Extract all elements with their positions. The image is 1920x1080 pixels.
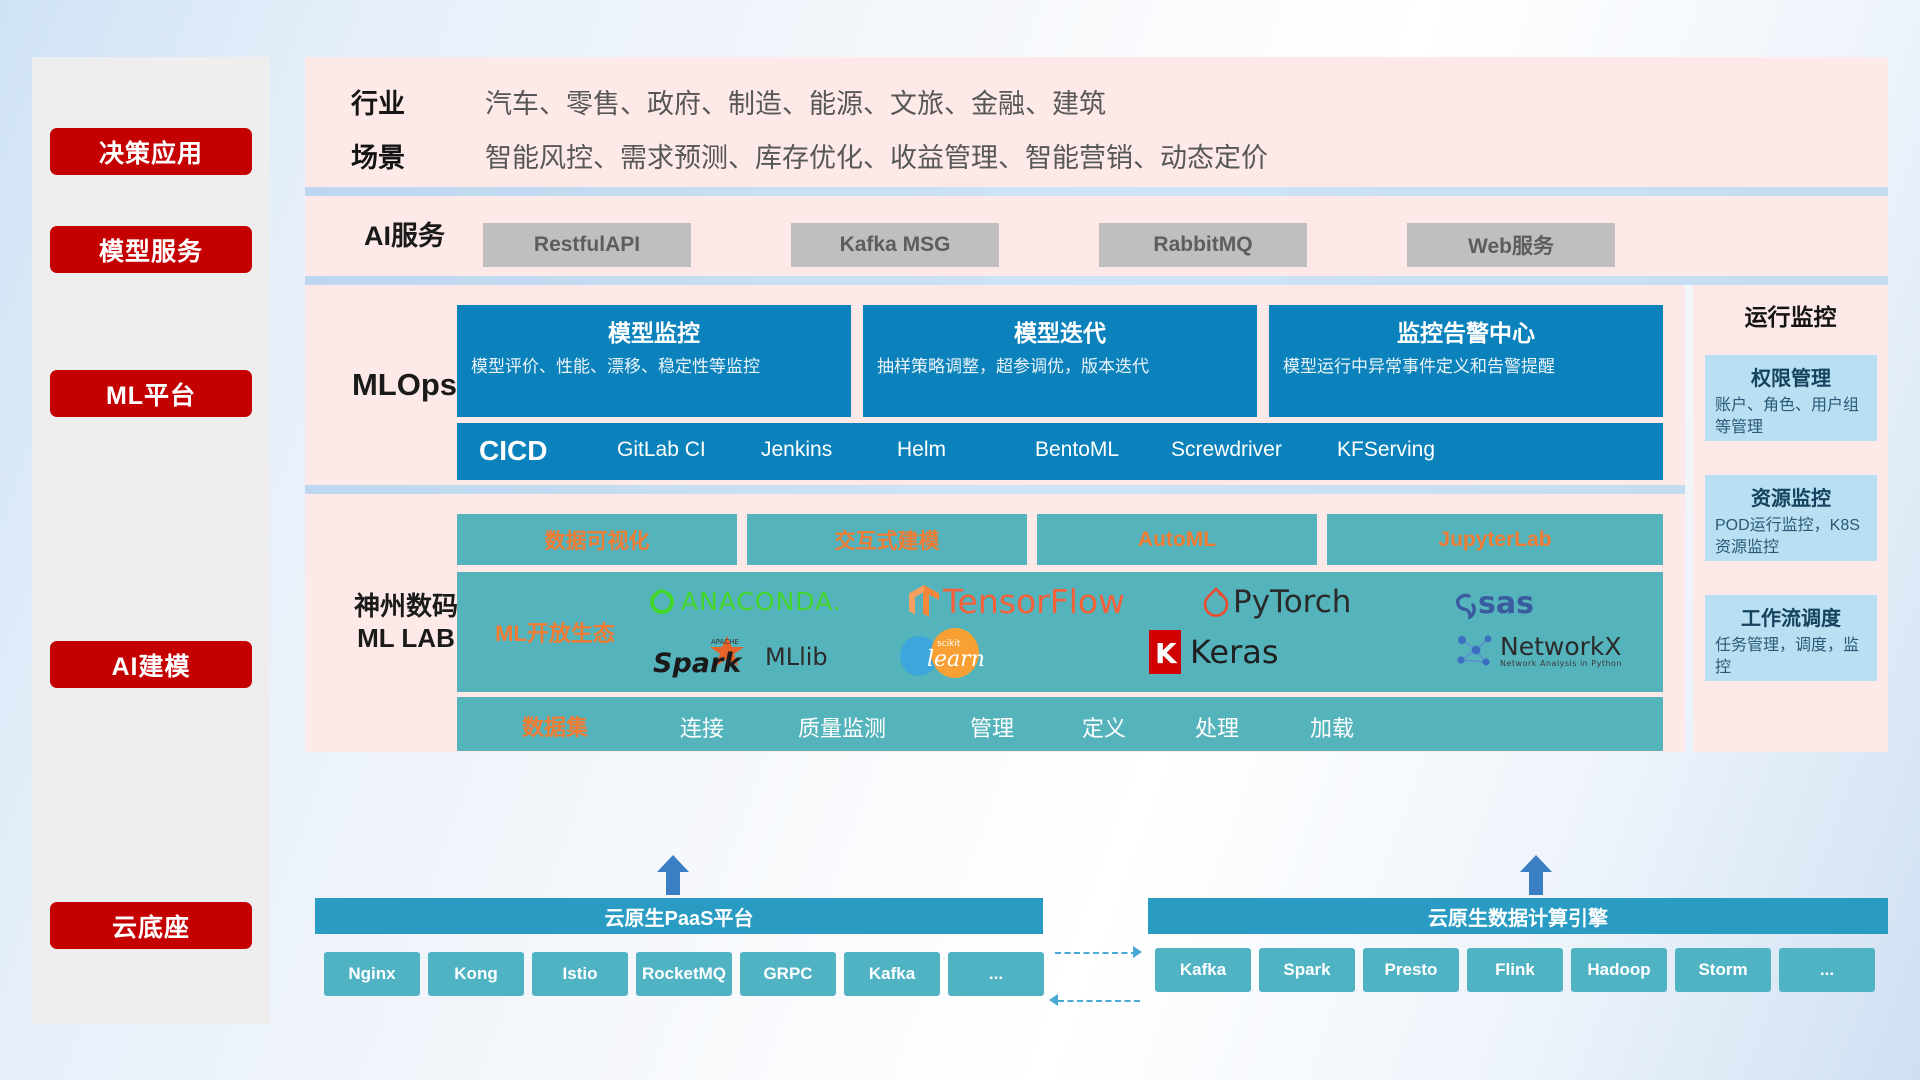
card-title: 权限管理 — [1715, 362, 1867, 391]
architecture-diagram: 决策应用 模型服务 ML平台 AI建模 云底座 行业 汽车、零售、政府、制造、能… — [0, 0, 1920, 1080]
cloud-chip-kafka-right[interactable]: Kafka — [1155, 948, 1251, 992]
sas-mark-icon — [1447, 589, 1477, 619]
ml-ecosystem-label: ML开放生态 — [475, 616, 635, 648]
cloud-chip-istio[interactable]: Istio — [532, 952, 628, 996]
dataset-item-label: 加载 — [1310, 716, 1354, 741]
cloud-chip-storm[interactable]: Storm — [1675, 948, 1771, 992]
cloud-chip-nginx[interactable]: Nginx — [324, 952, 420, 996]
cloud-chip-label: GRPC — [763, 965, 812, 984]
arrow-up-paas-icon — [655, 855, 691, 895]
ml-lab-label-line2: ML LAB — [354, 623, 458, 655]
dataset-label: 数据集 — [475, 710, 635, 742]
cloud-chip-label: Storm — [1698, 961, 1747, 980]
cloud-chip-label: RocketMQ — [642, 965, 726, 984]
rail-item-decision-app[interactable]: 决策应用 — [50, 128, 252, 175]
industry-list: 汽车、零售、政府、制造、能源、文旅、金融、建筑 — [485, 82, 1106, 121]
dataset-item-label: 连接 — [680, 716, 724, 741]
card-desc: 抽样策略调整，超参调优，版本迭代 — [877, 355, 1243, 380]
cloud-chip-kong[interactable]: Kong — [428, 952, 524, 996]
dataset-item-load[interactable]: 加载 — [1277, 711, 1387, 743]
dataset-item-label: 质量监测 — [798, 716, 886, 741]
mlops-card-model-iteration[interactable]: 模型迭代 抽样策略调整，超参调优，版本迭代 — [863, 305, 1257, 417]
chip-label: Kafka MSG — [840, 233, 951, 257]
rail-item-label: 云底座 — [112, 908, 190, 944]
rail-item-model-service[interactable]: 模型服务 — [50, 226, 252, 273]
cloud-chip-kafka[interactable]: Kafka — [844, 952, 940, 996]
spark-mllib-logo: APACHE Spark MLlib — [653, 634, 828, 680]
anaconda-logo: ANACONDA. — [647, 586, 842, 616]
cloud-chip-label: Nginx — [348, 965, 395, 984]
cloud-header-label: 云原生数据计算引擎 — [1428, 902, 1608, 931]
industry-scene-band: 行业 汽车、零售、政府、制造、能源、文旅、金融、建筑 场景 智能风控、需求预测、… — [305, 57, 1888, 187]
cloud-chip-more-left[interactable]: ... — [948, 952, 1044, 996]
cloud-chip-label: ... — [1820, 961, 1834, 980]
lab-tab-label: JupyterLab — [1438, 528, 1551, 552]
spark-mark-icon: APACHE Spark — [653, 634, 761, 680]
networkx-wordmark: NetworkX — [1500, 634, 1622, 659]
networkx-logo: NetworkX Network Analysis in Python — [1452, 630, 1622, 672]
rail-item-label: ML平台 — [106, 376, 196, 412]
chip-label: RabbitMQ — [1153, 233, 1252, 257]
pytorch-flame-icon — [1202, 586, 1230, 618]
pytorch-logo: PyTorch — [1202, 584, 1351, 620]
tensorflow-logo: TensorFlow — [907, 582, 1125, 621]
mllib-wordmark: MLlib — [765, 643, 828, 671]
tensorflow-mark-icon — [907, 583, 941, 621]
card-title: 模型监控 — [471, 314, 837, 348]
cicd-item-label: Screwdriver — [1171, 438, 1282, 461]
cicd-item-label: KFServing — [1337, 438, 1435, 461]
cicd-item-label: BentoML — [1035, 438, 1119, 461]
anaconda-mark-icon — [647, 586, 677, 616]
rail-item-label: 决策应用 — [99, 134, 203, 170]
scikit-learn-mark-icon: scikit learn — [897, 628, 1017, 680]
card-desc: POD运行监控，K8S资源监控 — [1715, 515, 1867, 560]
dataset-item-manage[interactable]: 管理 — [937, 711, 1047, 743]
dataset-item-quality[interactable]: 质量监测 — [787, 711, 897, 743]
rail-item-cloud-base[interactable]: 云底座 — [50, 902, 252, 949]
card-desc: 任务管理，调度，监控 — [1715, 635, 1867, 680]
connector-left-arrowhead-icon — [1049, 994, 1058, 1006]
scene-term: 场景 — [351, 136, 471, 175]
lab-tab-label: AutoML — [1138, 528, 1216, 552]
lab-tab-jupyterlab[interactable]: JupyterLab — [1327, 514, 1663, 565]
cloud-chip-more-right[interactable]: ... — [1779, 948, 1875, 992]
cloud-chip-presto[interactable]: Presto — [1363, 948, 1459, 992]
scene-list: 智能风控、需求预测、库存优化、收益管理、智能营销、动态定价 — [485, 136, 1268, 175]
rail-item-label: 模型服务 — [99, 232, 203, 268]
cicd-item-jenkins[interactable]: Jenkins — [761, 437, 869, 464]
anaconda-wordmark: ANACONDA. — [681, 587, 842, 616]
cloud-chip-flink[interactable]: Flink — [1467, 948, 1563, 992]
networkx-graph-icon — [1452, 630, 1496, 672]
ml-lab-label-line1: 神州数码 — [354, 591, 458, 623]
lab-tab-label: 交互式建模 — [835, 525, 940, 555]
dataset-item-label: 管理 — [970, 716, 1014, 741]
cloud-chip-label: ... — [989, 965, 1003, 984]
connector-right-arrow — [1055, 952, 1137, 954]
cicd-item-screwdriver[interactable]: Screwdriver — [1171, 437, 1279, 464]
dataset-item-connect[interactable]: 连接 — [647, 711, 757, 743]
svg-text:APACHE: APACHE — [711, 638, 739, 646]
monitor-card-resource[interactable]: 资源监控 POD运行监控，K8S资源监控 — [1705, 475, 1877, 561]
tensorflow-wordmark: TensorFlow — [943, 582, 1125, 621]
lab-tab-automl[interactable]: AutoML — [1037, 514, 1317, 565]
lab-tab-data-visualization[interactable]: 数据可视化 — [457, 514, 737, 565]
layer-rail: 决策应用 模型服务 ML平台 AI建模 云底座 — [32, 57, 270, 1024]
band-divider — [305, 187, 1888, 196]
rail-item-ai-modeling[interactable]: AI建模 — [50, 641, 252, 688]
cloud-chip-grpc[interactable]: GRPC — [740, 952, 836, 996]
ai-service-label: AI服务 — [327, 196, 482, 276]
card-desc: 模型运行中异常事件定义和告警提醒 — [1283, 355, 1649, 380]
service-chip-rabbitmq[interactable]: RabbitMQ — [1099, 223, 1307, 267]
chip-label: RestfulAPI — [534, 233, 640, 257]
mlops-card-alert-center[interactable]: 监控告警中心 模型运行中异常事件定义和告警提醒 — [1269, 305, 1663, 417]
scikit-learn-logo: scikit learn — [897, 628, 1017, 680]
cicd-item-label: GitLab CI — [617, 438, 706, 461]
card-title: 监控告警中心 — [1283, 314, 1649, 348]
cloud-header-label: 云原生PaaS平台 — [605, 902, 754, 931]
monitor-card-workflow[interactable]: 工作流调度 任务管理，调度，监控 — [1705, 595, 1877, 681]
cloud-chip-label: Hadoop — [1587, 961, 1650, 980]
chip-label: Web服务 — [1468, 230, 1554, 260]
cloud-chip-rocketmq[interactable]: RocketMQ — [636, 952, 732, 996]
cicd-item-gitlab-ci[interactable]: GitLab CI — [617, 437, 725, 464]
card-desc: 模型评价、性能、漂移、稳定性等监控 — [471, 355, 837, 380]
cloud-chip-label: Kong — [454, 965, 497, 984]
rail-item-ml-platform[interactable]: ML平台 — [50, 370, 252, 417]
keras-wordmark: Keras — [1190, 633, 1279, 671]
cicd-item-label: Jenkins — [761, 438, 832, 461]
monitor-card-permission[interactable]: 权限管理 账户、角色、用户组等管理 — [1705, 355, 1877, 441]
networkx-tagline: Network Analysis in Python — [1500, 659, 1622, 668]
dataset-item-process[interactable]: 处理 — [1162, 711, 1272, 743]
lab-tab-interactive-modeling[interactable]: 交互式建模 — [747, 514, 1027, 565]
cicd-bar: CICD GitLab CI Jenkins Helm BentoML Scre… — [457, 423, 1663, 480]
cloud-chip-hadoop[interactable]: Hadoop — [1571, 948, 1667, 992]
service-chip-kafka-msg[interactable]: Kafka MSG — [791, 223, 999, 267]
sas-wordmark: sas — [1478, 586, 1534, 621]
sas-logo: sas — [1447, 586, 1534, 621]
monitoring-title: 运行监控 — [1693, 298, 1888, 332]
card-desc: 账户、角色、用户组等管理 — [1715, 395, 1867, 440]
band-divider — [305, 276, 1888, 285]
band-divider — [305, 485, 1685, 494]
cloud-chip-label: Flink — [1495, 961, 1535, 980]
dataset-item-label: 处理 — [1195, 716, 1239, 741]
cicd-item-helm[interactable]: Helm — [897, 437, 1005, 464]
cloud-chip-label: Istio — [563, 965, 598, 984]
card-title: 模型迭代 — [877, 314, 1243, 348]
industry-term: 行业 — [351, 82, 471, 121]
cicd-item-bentoml[interactable]: BentoML — [1035, 437, 1143, 464]
dataset-item-label: 定义 — [1082, 716, 1126, 741]
cloud-chip-label: Kafka — [1180, 961, 1226, 980]
cloud-header-paas: 云原生PaaS平台 — [315, 898, 1043, 934]
service-chip-web-service[interactable]: Web服务 — [1407, 223, 1615, 267]
mlops-card-model-monitoring[interactable]: 模型监控 模型评价、性能、漂移、稳定性等监控 — [457, 305, 851, 417]
keras-logo: K Keras — [1147, 628, 1279, 676]
svg-text:K: K — [1155, 637, 1178, 670]
service-chip-restfulapi[interactable]: RestfulAPI — [483, 223, 691, 267]
pytorch-wordmark: PyTorch — [1233, 584, 1351, 620]
rail-item-label: AI建模 — [111, 647, 190, 683]
cloud-chip-spark[interactable]: Spark — [1259, 948, 1355, 992]
dataset-item-define[interactable]: 定义 — [1049, 711, 1159, 743]
card-title: 资源监控 — [1715, 482, 1867, 511]
ml-ecosystem-box: ML开放生态 ANACONDA. TensorFlow — [457, 572, 1663, 692]
cloud-header-engine: 云原生数据计算引擎 — [1148, 898, 1888, 934]
keras-mark-icon: K — [1147, 628, 1183, 676]
cloud-chip-label: Presto — [1385, 961, 1438, 980]
cloud-chip-label: Kafka — [869, 965, 915, 984]
cicd-title: CICD — [479, 435, 547, 467]
card-title: 工作流调度 — [1715, 602, 1867, 631]
dataset-bar: 数据集 连接 质量监测 管理 定义 处理 加载 — [457, 697, 1663, 751]
connector-right-arrowhead-icon — [1133, 946, 1142, 958]
cloud-chip-label: Spark — [1283, 961, 1330, 980]
lab-tab-label: 数据可视化 — [545, 525, 650, 555]
arrow-up-engine-icon — [1518, 855, 1554, 895]
connector-left-arrow — [1058, 1000, 1140, 1002]
cicd-item-label: Helm — [897, 438, 946, 461]
cicd-item-kfserving[interactable]: KFServing — [1337, 437, 1445, 464]
svg-text:learn: learn — [927, 647, 985, 672]
svg-text:Spark: Spark — [653, 648, 743, 679]
